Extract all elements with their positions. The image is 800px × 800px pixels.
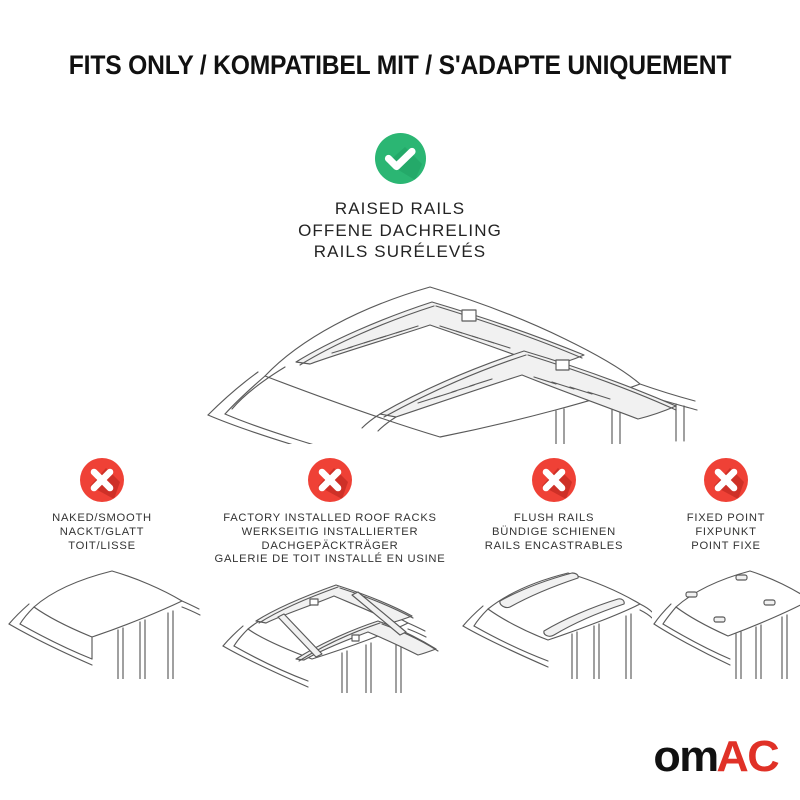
incompatible-labels-naked-smooth: NAKED/SMOOTH NACKT/GLATT TOIT/LISSE: [0, 512, 204, 553]
incompatible-item-naked-smooth: NAKED/SMOOTH NACKT/GLATT TOIT/LISSE: [0, 452, 204, 679]
car-roof-fixed-point-illustration: [652, 559, 800, 679]
car-roof-naked-smooth-illustration: [0, 559, 204, 679]
label-line-2: FIXPUNKT: [652, 526, 800, 540]
compatible-label-en: RAISED RAILS: [0, 198, 800, 220]
label-line-2: BÜNDIGE SCHIENEN: [456, 526, 652, 540]
check-circle-icon: [375, 133, 426, 184]
label-line-1: FLUSH RAILS: [456, 512, 652, 526]
incompatible-labels-flush-rails: FLUSH RAILS BÜNDIGE SCHIENEN RAILS ENCAS…: [456, 512, 652, 553]
cross-circle-icon: [308, 458, 352, 502]
label-line-2: NACKT/GLATT: [0, 526, 204, 540]
incompatible-labels-factory-roof-racks: FACTORY INSTALLED ROOF RACKS WERKSEITIG …: [204, 512, 456, 567]
label-line-1: FACTORY INSTALLED ROOF RACKS: [204, 512, 456, 526]
label-line-3: TOIT/LISSE: [0, 540, 204, 554]
label-line-1: FIXED POINT: [652, 512, 800, 526]
header: FITS ONLY / KOMPATIBEL MIT / S'ADAPTE UN…: [0, 50, 800, 81]
incompatible-item-flush-rails: FLUSH RAILS BÜNDIGE SCHIENEN RAILS ENCAS…: [456, 452, 652, 679]
incompatible-section: NAKED/SMOOTH NACKT/GLATT TOIT/LISSE: [0, 452, 800, 693]
logo-text-red: AC: [717, 735, 779, 779]
page-title: FITS ONLY / KOMPATIBEL MIT / S'ADAPTE UN…: [28, 50, 772, 81]
incompatible-item-fixed-point: FIXED POINT FIXPUNKT POINT FIXE: [652, 452, 800, 679]
label-line-3: DACHGEPÄCKTRÄGER: [204, 540, 456, 554]
label-line-3: RAILS ENCASTRABLES: [456, 540, 652, 554]
compatible-label-fr: RAILS SURÉLEVÉS: [0, 241, 800, 263]
compatible-labels: RAISED RAILS OFFENE DACHRELING RAILS SUR…: [0, 198, 800, 263]
car-roof-raised-rails-illustration: [0, 269, 800, 444]
label-line-4: GALERIE DE TOIT INSTALLÉ EN USINE: [204, 553, 456, 567]
label-line-3: POINT FIXE: [652, 540, 800, 554]
logo-text-dark: om: [654, 735, 718, 779]
car-roof-flush-rails-illustration: [456, 559, 652, 679]
car-roof-factory-roof-racks-illustration: [204, 573, 456, 693]
cross-circle-icon: [532, 458, 576, 502]
incompatible-item-factory-roof-racks: FACTORY INSTALLED ROOF RACKS WERKSEITIG …: [204, 452, 456, 693]
cross-circle-icon: [80, 458, 124, 502]
omac-logo: omAC: [654, 736, 778, 778]
cross-circle-icon: [704, 458, 748, 502]
label-line-2: WERKSEITIG INSTALLIERTER: [204, 526, 456, 540]
label-line-1: NAKED/SMOOTH: [0, 512, 204, 526]
compatible-section: RAISED RAILS OFFENE DACHRELING RAILS SUR…: [0, 133, 800, 444]
compatible-label-de: OFFENE DACHRELING: [0, 220, 800, 242]
incompatible-labels-fixed-point: FIXED POINT FIXPUNKT POINT FIXE: [652, 512, 800, 553]
